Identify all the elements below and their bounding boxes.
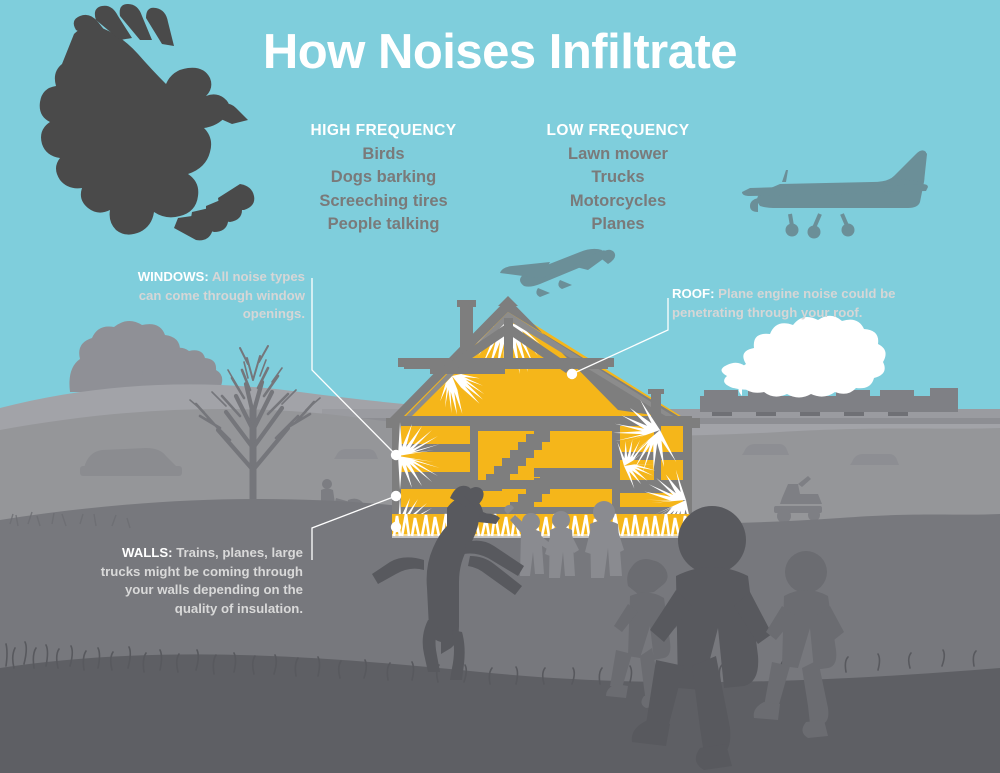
callout-windows-label: WINDOWS: — [138, 269, 209, 284]
page-title: How Noises Infiltrate — [0, 27, 1000, 78]
frequency-column-high: HIGH FREQUENCY Birds Dogs barking Screec… — [311, 120, 457, 237]
running-child-right — [754, 551, 844, 738]
foreground-figures — [0, 0, 1000, 773]
callout-walls-label: WALLS: — [122, 545, 173, 560]
frequency-item-motorcycles: Motorcycles — [547, 190, 690, 213]
person-standing-a — [545, 511, 579, 578]
jumping-dog-silhouette — [372, 486, 524, 680]
person-standing-b — [585, 501, 624, 578]
frequency-heading-high: HIGH FREQUENCY — [311, 120, 457, 142]
frequency-item-dogs-barking: Dogs barking — [311, 166, 457, 189]
frequency-item-birds: Birds — [311, 143, 457, 166]
callout-roof: ROOF: Plane engine noise could be penetr… — [672, 285, 917, 322]
frequency-column-low: LOW FREQUENCY Lawn mower Trucks Motorcyc… — [547, 120, 690, 237]
frequency-lists: HIGH FREQUENCY Birds Dogs barking Screec… — [0, 120, 1000, 237]
frequency-item-people-talking: People talking — [311, 213, 457, 236]
infographic-canvas: How Noises Infiltrate HIGH FREQUENCY Bir… — [0, 0, 1000, 773]
frequency-item-lawn-mower: Lawn mower — [547, 143, 690, 166]
callout-windows: WINDOWS: All noise types can come throug… — [120, 268, 305, 324]
callout-walls: WALLS: Trains, planes, large trucks migh… — [88, 544, 303, 619]
frequency-heading-low: LOW FREQUENCY — [547, 120, 690, 142]
frequency-item-planes: Planes — [547, 213, 690, 236]
frequency-item-trucks: Trucks — [547, 166, 690, 189]
callout-roof-label: ROOF: — [672, 286, 715, 301]
frequency-item-screeching-tires: Screeching tires — [311, 190, 457, 213]
